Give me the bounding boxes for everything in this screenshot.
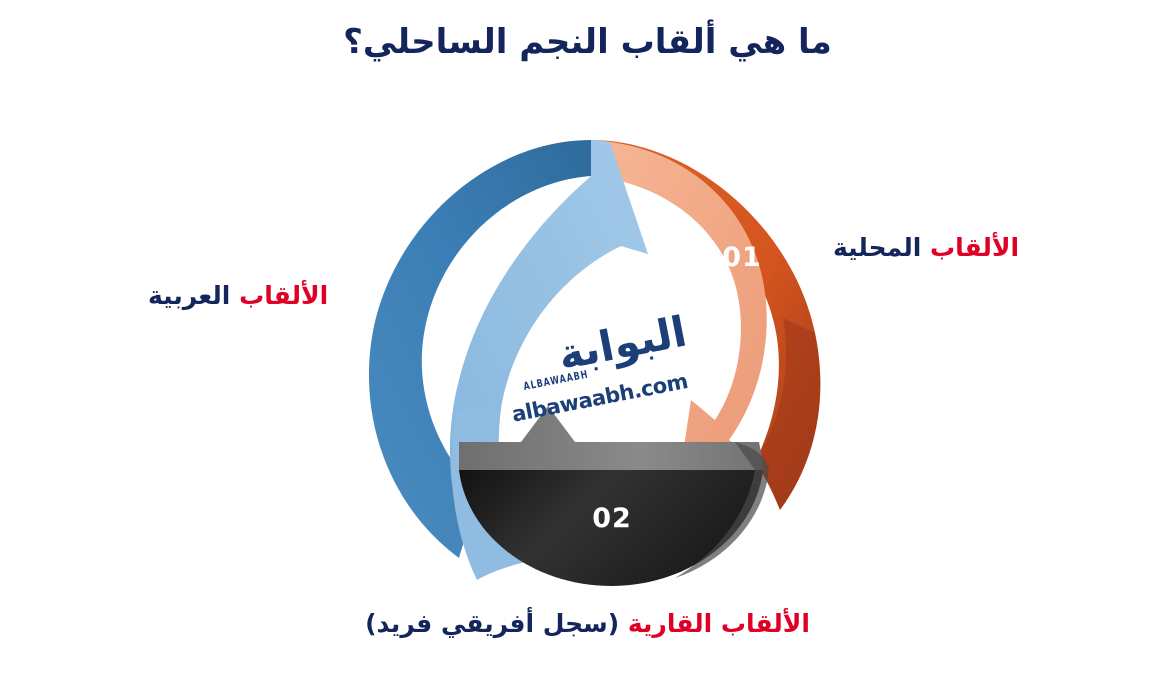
segment-number-02: 02 [579, 503, 645, 534]
segment-label-03-emphasis: الألقاب [239, 281, 328, 310]
segment-number-01: 01 [712, 242, 772, 273]
segment-label-01: الألقاب المحلية [833, 232, 1019, 263]
segment-label-02-emphasis: الألقاب القارية [628, 609, 810, 638]
segment-label-02: الألقاب القارية (سجل أفريقي فريد) [0, 608, 1175, 639]
segment-label-02-rest: (سجل أفريقي فريد) [365, 609, 619, 638]
segment-number-03: 03 [428, 274, 488, 305]
page-title: ما هي ألقاب النجم الساحلي؟ [0, 22, 1175, 62]
segment-label-01-rest: المحلية [833, 233, 921, 262]
infographic-canvas: ما هي ألقاب النجم الساحلي؟ [0, 0, 1175, 691]
segment-label-01-emphasis: الألقاب [930, 233, 1019, 262]
segment-label-03: الألقاب العربية [148, 280, 328, 311]
segment-label-03-rest: العربية [148, 281, 230, 310]
